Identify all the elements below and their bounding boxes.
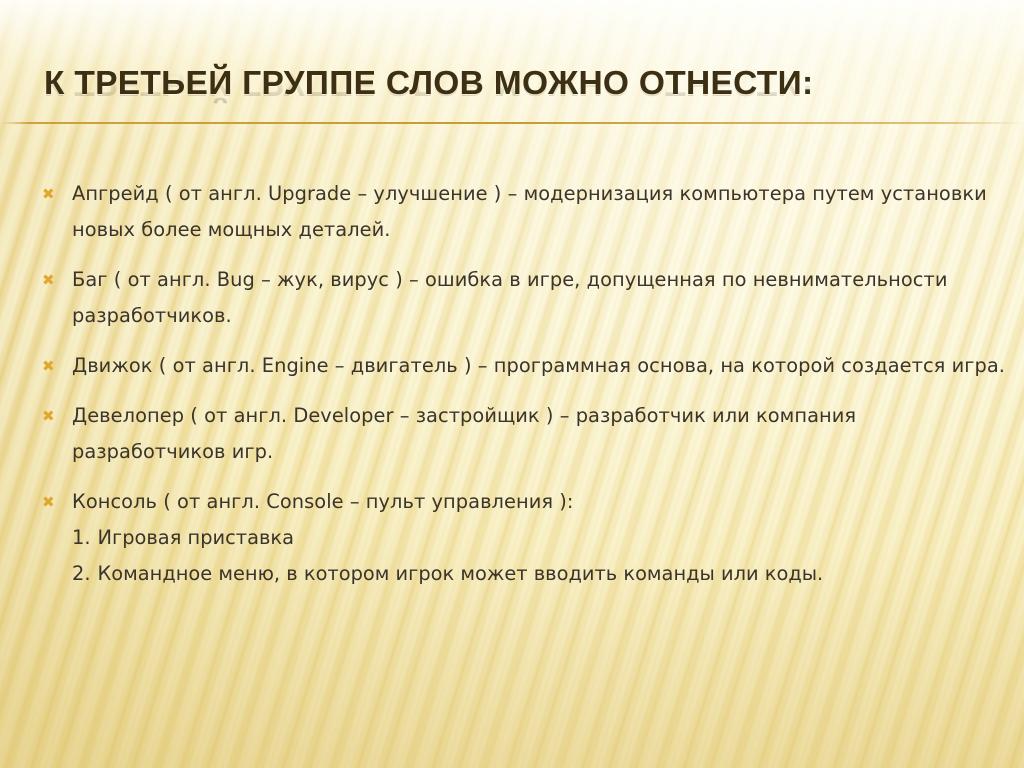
cross-bullet-icon: ✖ <box>38 176 72 212</box>
list-item-text: Консоль ( от англ. Console – пульт управ… <box>72 484 1006 520</box>
numbered-list-item: 2. Командное меню, в котором игрок может… <box>38 556 1006 592</box>
list-item: ✖ Консоль ( от англ. Console – пульт упр… <box>38 484 1006 520</box>
list-item-text: Девелопер ( от англ. Developer – застрой… <box>72 398 1006 470</box>
cross-bullet-icon: ✖ <box>38 398 72 434</box>
numbered-sub-list: 1. Игровая приставка 2. Командное меню, … <box>38 520 1006 592</box>
bullet-list: ✖ Апгрейд ( от англ. Upgrade – улучшение… <box>38 176 1006 592</box>
list-item-text: Движок ( от англ. Engine – двигатель ) –… <box>72 348 1006 384</box>
cross-bullet-icon: ✖ <box>38 348 72 384</box>
slide-title-block: К третьей группе слов можно отнести: К т… <box>0 63 1024 149</box>
list-item-text: Апгрейд ( от англ. Upgrade – улучшение )… <box>72 176 1006 248</box>
cross-bullet-icon: ✖ <box>38 484 72 520</box>
list-item: ✖ Девелопер ( от англ. Developer – застр… <box>38 398 1006 470</box>
title-underline-rule <box>0 122 1024 124</box>
numbered-list-item: 1. Игровая приставка <box>38 520 1006 556</box>
page-title: К третьей группе слов можно отнести: <box>44 63 813 105</box>
list-item-text: Баг ( от англ. Bug – жук, вирус ) – ошиб… <box>72 262 1006 334</box>
numbered-list-item-number: 2. <box>72 556 98 592</box>
list-item: ✖ Апгрейд ( от англ. Upgrade – улучшение… <box>38 176 1006 248</box>
list-item: ✖ Движок ( от англ. Engine – двигатель )… <box>38 348 1006 384</box>
cross-bullet-icon: ✖ <box>38 262 72 298</box>
list-item: ✖ Баг ( от англ. Bug – жук, вирус ) – ош… <box>38 262 1006 334</box>
numbered-list-item-text: Игровая приставка <box>98 520 1006 556</box>
numbered-list-item-text: Командное меню, в котором игрок может вв… <box>98 556 1006 592</box>
numbered-list-item-number: 1. <box>72 520 98 556</box>
slide-canvas: К третьей группе слов можно отнести: К т… <box>0 0 1024 768</box>
